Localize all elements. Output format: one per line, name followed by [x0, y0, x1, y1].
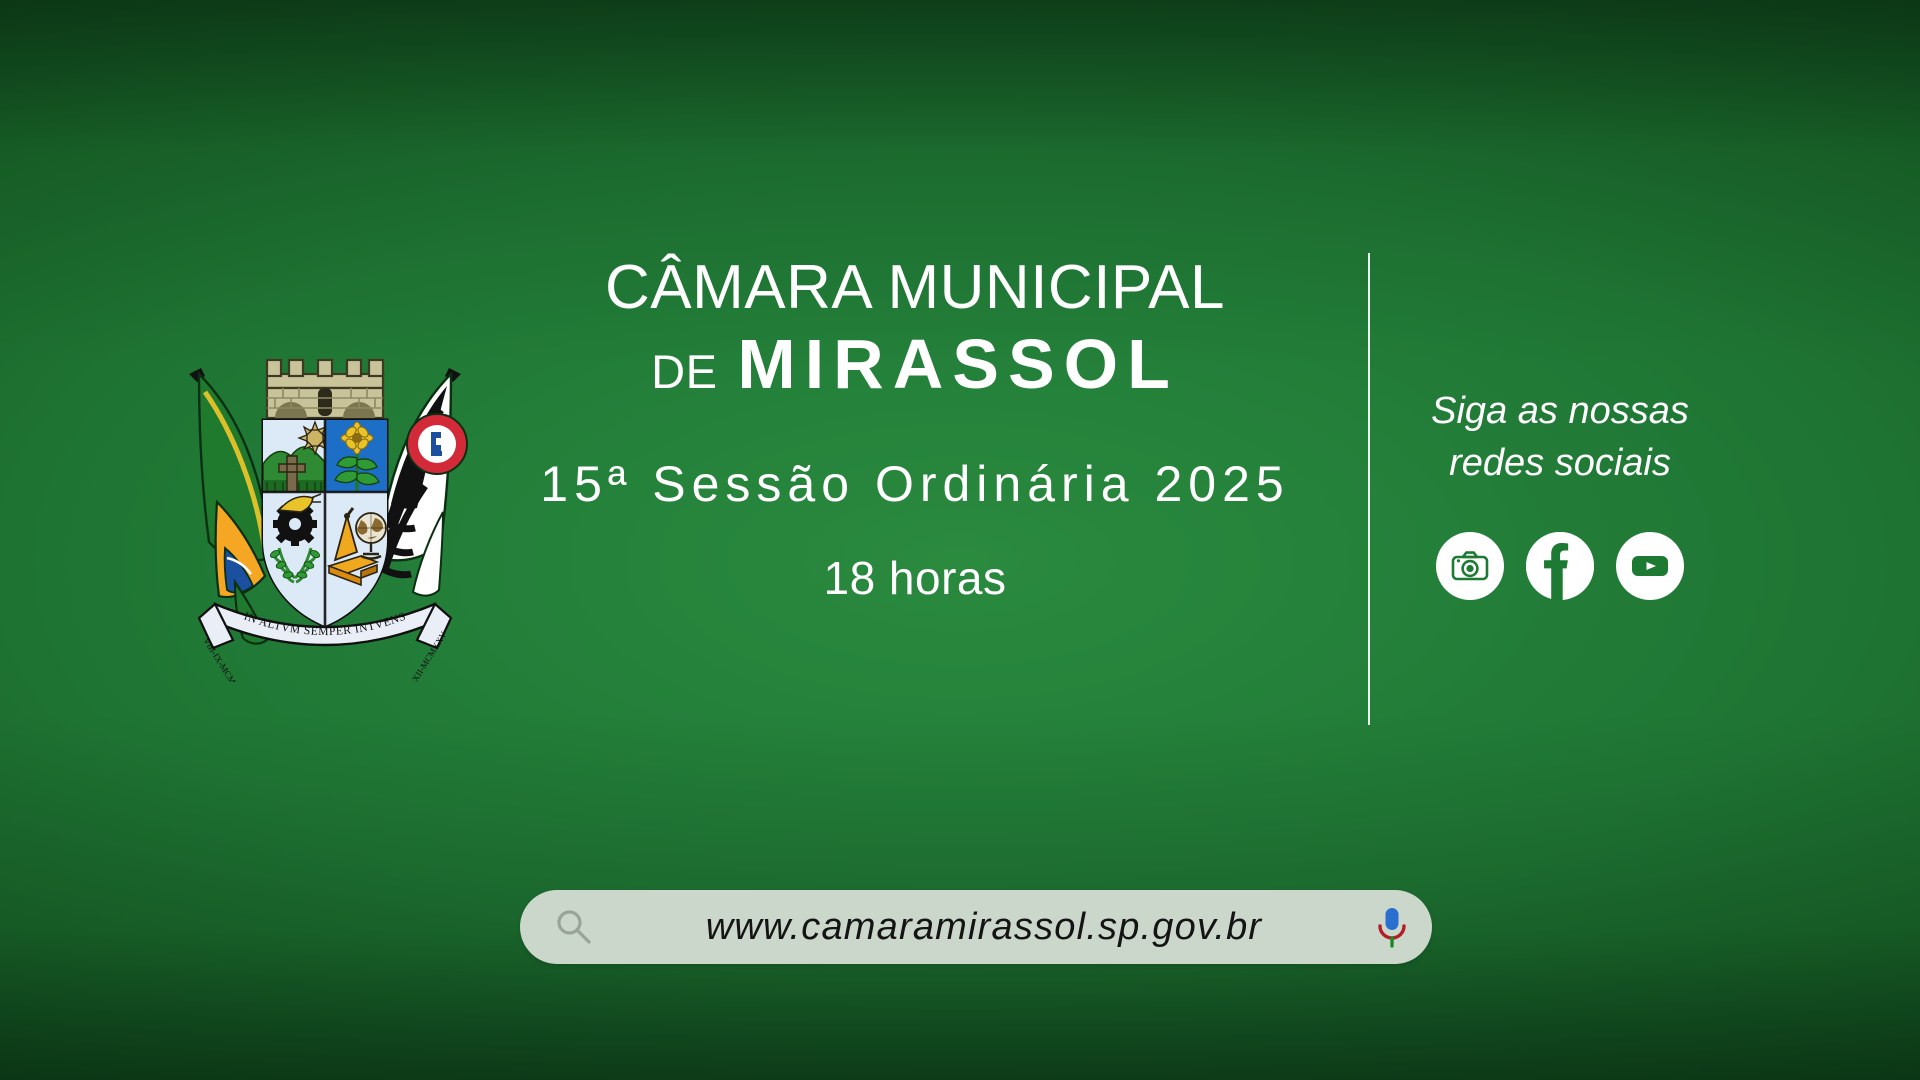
social-heading-line-2: redes sociais: [1410, 437, 1710, 489]
page-title-line-1: CÂMARA MUNICIPAL: [470, 255, 1360, 322]
camera-icon: [1448, 544, 1492, 588]
shield: [263, 420, 387, 626]
social-link-instagram[interactable]: [1436, 532, 1504, 600]
coat-of-arms: IN ALTVM SEMPER INTVENS VIII-IX-MCMX XXI…: [175, 352, 475, 682]
saopaulo-flag: [379, 368, 467, 596]
social-icon-row: [1410, 532, 1710, 600]
vertical-divider: [1368, 253, 1370, 725]
search-input[interactable]: [598, 906, 1370, 949]
social-panel: Siga as nossas redes sociais: [1410, 385, 1710, 600]
magnifier-icon: [552, 906, 598, 948]
title-prefix: DE: [651, 346, 717, 398]
social-link-facebook[interactable]: [1526, 532, 1594, 600]
facebook-icon: [1526, 532, 1594, 600]
microphone-icon[interactable]: [1370, 904, 1414, 950]
session-time: 18 horas: [470, 551, 1360, 605]
youtube-icon: [1628, 544, 1672, 588]
page-title-line-2: DE MIRASSOL: [470, 326, 1360, 403]
castle-crown: [267, 360, 383, 418]
social-heading-line-1: Siga as nossas: [1410, 385, 1710, 437]
search-bar[interactable]: [520, 890, 1432, 964]
title-city: MIRASSOL: [737, 326, 1178, 403]
session-label: 15ª Sessão Ordinária 2025: [470, 455, 1360, 513]
brazil-flag: [189, 368, 271, 644]
social-link-youtube[interactable]: [1616, 532, 1684, 600]
main-text-block: CÂMARA MUNICIPAL DE MIRASSOL 15ª Sessão …: [470, 255, 1360, 605]
